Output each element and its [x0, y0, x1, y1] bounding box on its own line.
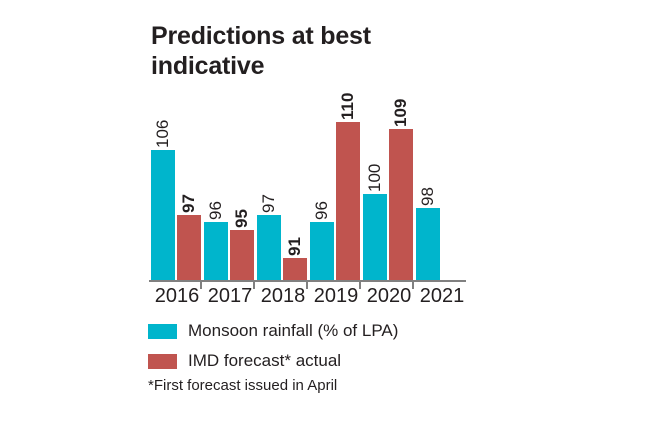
legend-label-monsoon-rainfall: Monsoon rainfall (% of LPA) — [188, 321, 398, 341]
bar-rect — [363, 194, 387, 280]
bar-value-label: 109 — [389, 103, 413, 127]
bar-value-label: 97 — [257, 189, 281, 213]
bar-rect — [283, 258, 307, 280]
bar-rect — [230, 230, 254, 280]
x-label-2018: 2018 — [256, 285, 310, 308]
chart-card: Predictions at best indicative 106979695… — [0, 0, 660, 440]
plot-area: 10697969597919611010010998 — [151, 100, 469, 280]
bar-rect — [204, 222, 228, 280]
bar-value-label: 98 — [416, 182, 440, 206]
x-label-2016: 2016 — [150, 285, 204, 308]
bar-value-label: 106 — [151, 124, 175, 148]
chart-legend: Monsoon rainfall (% of LPA) IMD forecast… — [148, 316, 398, 376]
bar-rect — [257, 215, 281, 280]
legend-swatch-monsoon-rainfall — [148, 324, 177, 339]
chart-title: Predictions at best indicative — [151, 22, 551, 81]
bar-rect — [310, 222, 334, 280]
bar-rect — [416, 208, 440, 280]
bar-rect — [151, 150, 175, 280]
bar-value-label: 100 — [363, 168, 387, 192]
x-label-2020: 2020 — [362, 285, 416, 308]
x-label-2021: 2021 — [415, 285, 469, 308]
bar-rect — [389, 129, 413, 280]
x-label-2019: 2019 — [309, 285, 363, 308]
legend-item-1[interactable]: IMD forecast* actual — [148, 346, 398, 376]
legend-label-imd-forecast: IMD forecast* actual — [188, 351, 341, 371]
bar-value-label: 96 — [310, 196, 334, 220]
legend-item-0[interactable]: Monsoon rainfall (% of LPA) — [148, 316, 398, 346]
legend-swatch-imd-forecast — [148, 354, 177, 369]
chart-footnote: *First forecast issued in April — [148, 377, 337, 394]
bar-value-label: 110 — [336, 96, 360, 120]
bar-rect — [177, 215, 201, 280]
bar-value-label: 95 — [230, 204, 254, 228]
x-label-2017: 2017 — [203, 285, 257, 308]
bar-value-label: 96 — [204, 196, 228, 220]
bar-rect — [336, 122, 360, 280]
bar-value-label: 97 — [177, 189, 201, 213]
bar-value-label: 91 — [283, 232, 307, 256]
